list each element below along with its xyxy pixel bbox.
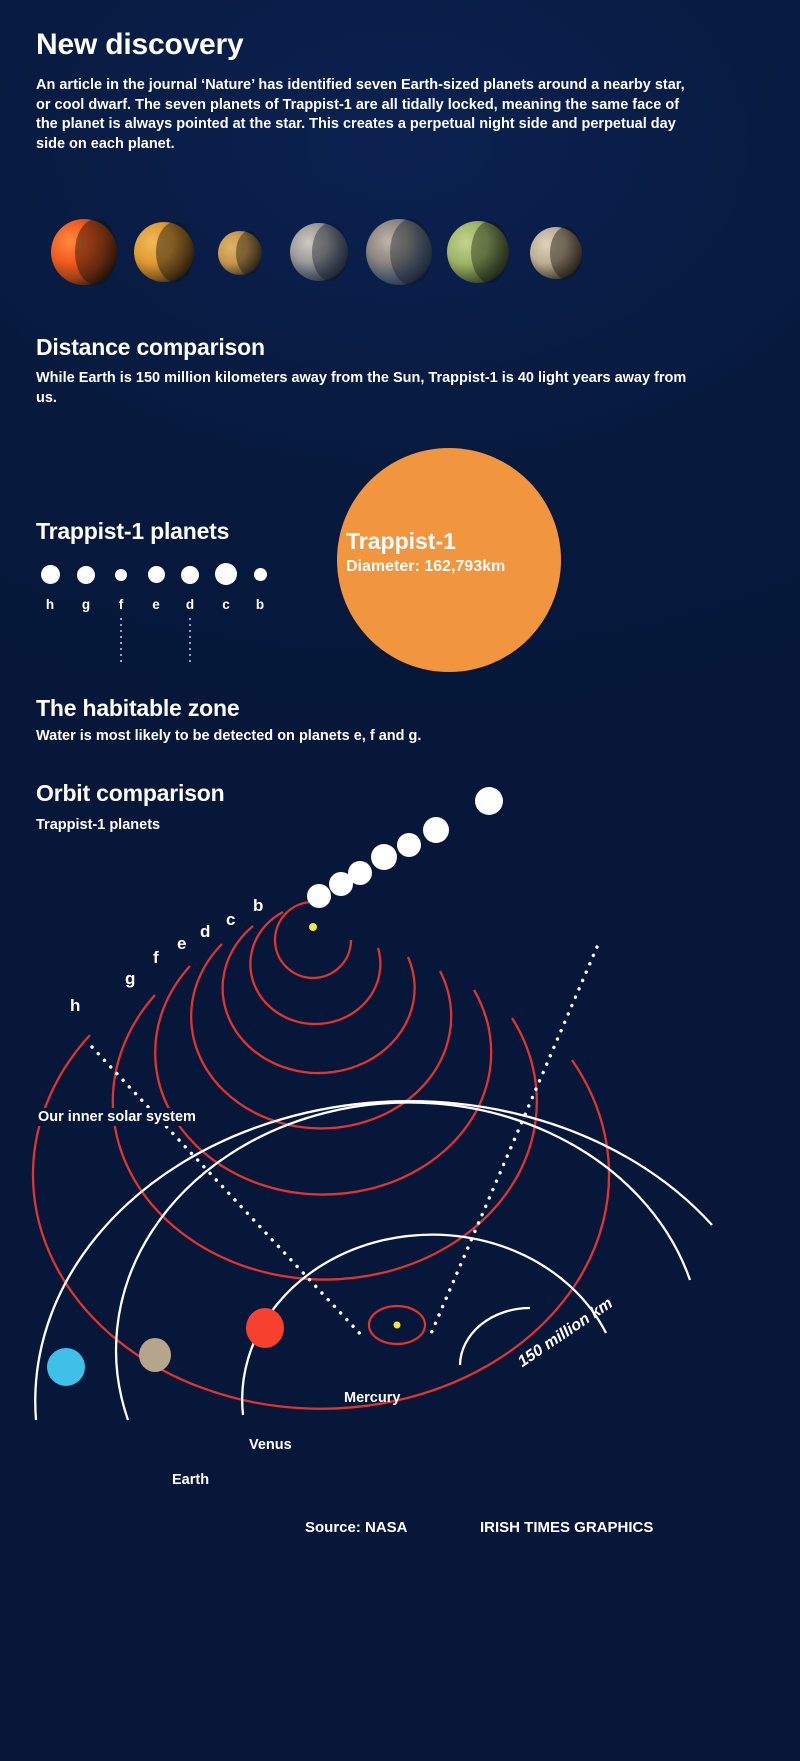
trappist-star-dot — [309, 923, 317, 931]
inner-solar-system-label: Our inner solar system — [36, 1108, 198, 1126]
source-label: Source: NASA — [305, 1519, 408, 1536]
credit-label: IRISH TIMES GRAPHICS — [480, 1519, 653, 1536]
orbit-label-g: g — [125, 969, 135, 989]
orbit-label-f: f — [153, 948, 159, 968]
orbit-planet-d — [348, 861, 372, 885]
orbit-planet-b — [307, 884, 331, 908]
orbit-planet-e — [371, 844, 397, 870]
trappist-orbit-arcs — [33, 902, 609, 1409]
orbit-label-c: c — [226, 910, 235, 930]
orbit-arc-b — [275, 902, 351, 978]
label-earth: Earth — [172, 1472, 209, 1488]
orbit-planet-h — [475, 787, 503, 815]
orbit-label-d: d — [200, 922, 210, 942]
orbit-label-e: e — [177, 934, 186, 954]
orbit-arc-f — [155, 966, 491, 1195]
trappist-orbit-planet-dots — [307, 787, 503, 908]
orbit-planet-g — [423, 817, 449, 843]
label-mercury: Mercury — [344, 1390, 400, 1406]
label-venus: Venus — [249, 1437, 292, 1453]
infographic-root: New discovery An article in the journal … — [0, 0, 800, 1761]
orbit-diagram — [0, 0, 800, 1761]
planet-earth — [47, 1348, 85, 1386]
orbit-arc-g — [113, 995, 537, 1280]
solar-system-arcs — [35, 1101, 712, 1420]
orbit-arc-d — [223, 926, 415, 1073]
orbit-label-h: h — [70, 996, 80, 1016]
orbit-planet-f — [397, 833, 421, 857]
orbit-label-b: b — [253, 896, 263, 916]
planet-venus — [139, 1338, 171, 1372]
planet-mercury — [246, 1308, 284, 1348]
connector-left — [92, 1047, 364, 1338]
sun-dot — [394, 1322, 401, 1329]
